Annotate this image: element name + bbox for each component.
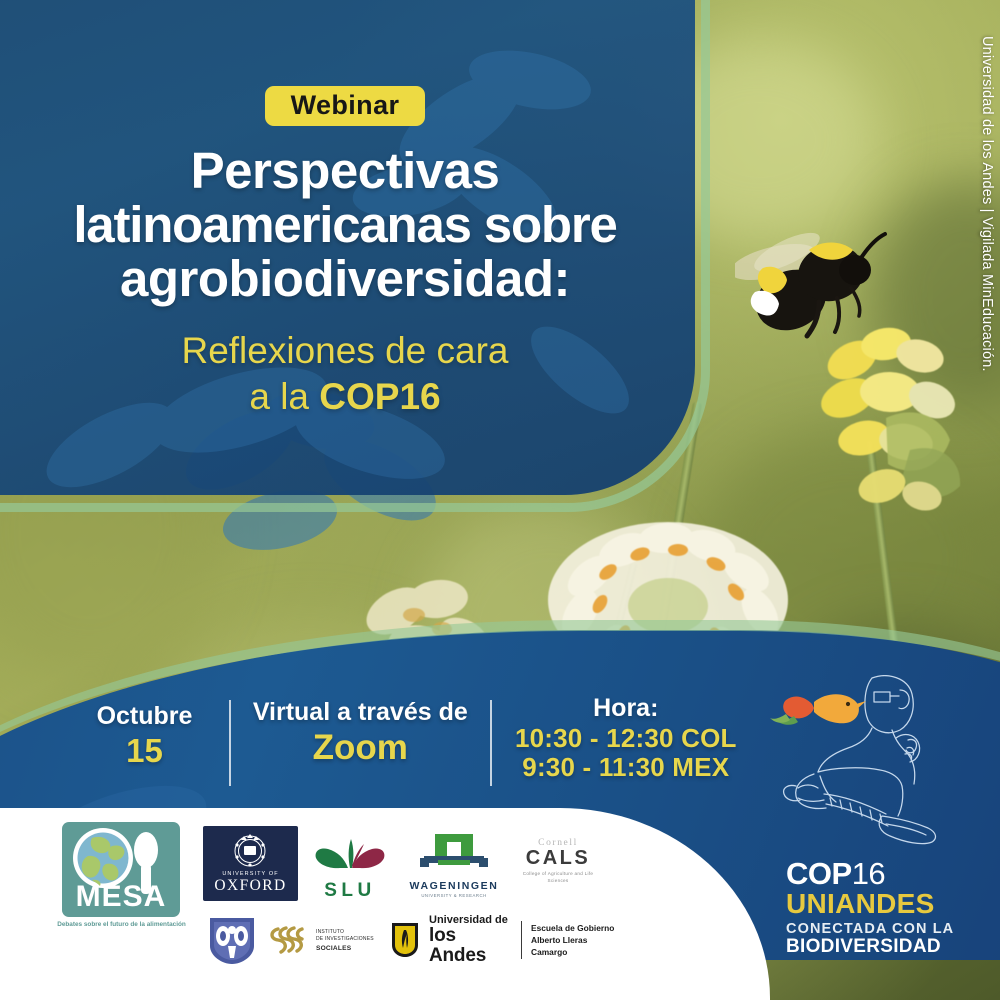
event-time: Hora: 10:30 - 12:30 COL 9:30 - 11:30 MEX	[492, 694, 760, 783]
cals-subtitle: College of Agriculture and Life Sciences	[512, 871, 604, 885]
bumblebee	[735, 218, 900, 353]
escuela-gobierno-text: Escuela de Gobierno Alberto Lleras Camar…	[531, 922, 620, 959]
headline-line-1: Perspectivas	[0, 144, 690, 198]
iis-line-3: SOCIALES	[316, 945, 351, 952]
escuela-line-1: Escuela de Gobierno	[531, 922, 620, 934]
sponsor-logos: MESA Debates sobre el futuro de la alime…	[0, 808, 770, 1000]
headline-line-3: agrobiodiversidad:	[0, 252, 690, 306]
divider	[521, 921, 522, 959]
cop16-title: COP16	[786, 858, 956, 889]
logo-mesa: MESA Debates sobre el futuro de la alime…	[62, 822, 197, 957]
logo-unam	[204, 912, 260, 968]
cop-subtitle-1: CONECTADA CON LA	[786, 922, 956, 938]
wageningen-subtitle: UNIVERSITY & RESEARCH	[404, 893, 504, 898]
webinar-badge: Webinar	[265, 86, 426, 126]
date-day: 15	[60, 732, 229, 770]
cop-number: 16	[852, 856, 885, 891]
slu-wordmark: SLU	[310, 880, 390, 902]
oxford-wordmark: UNIVERSITY OF OXFORD	[203, 871, 298, 894]
uniandes-text: UNIANDES	[786, 890, 956, 919]
oxford-name: OXFORD	[203, 877, 298, 894]
mesa-wordmark: MESA	[62, 880, 180, 914]
subheadline: Reflexiones de cara a la COP16	[0, 328, 690, 418]
iis-line-2: DE INVESTIGACIONES	[316, 936, 374, 944]
iis-spiral-icon	[268, 921, 310, 961]
logo-wageningen: WAGENINGEN UNIVERSITY & RESEARCH	[404, 830, 504, 902]
wageningen-wordmark: WAGENINGEN	[404, 880, 504, 892]
cop16-highlight: COP16	[319, 376, 440, 417]
logo-oxford: UNIVERSITY OF OXFORD	[203, 826, 298, 901]
event-details: Octubre 15 Virtual a través de Zoom Hora…	[60, 694, 760, 794]
logo-slu: SLU	[310, 832, 390, 900]
legal-side-text: Universidad de los Andes | Vigilada MinE…	[979, 36, 995, 372]
mesa-mark: MESA	[62, 822, 180, 917]
cop16-uniandes-logo: COP16 UNIANDES CONECTADA CON LA BIODIVER…	[768, 668, 968, 968]
iis-wordmark: INSTITUTO DE INVESTIGACIONES SOCIALES	[316, 929, 374, 954]
bird-icon	[770, 694, 866, 725]
wageningen-mark-icon	[404, 830, 504, 872]
cop16-wordmark: COP16 UNIANDES CONECTADA CON LA BIODIVER…	[786, 858, 956, 958]
oxford-crest-icon	[203, 826, 298, 874]
iis-line-1: INSTITUTO	[316, 929, 374, 937]
mesa-tagline: Debates sobre el futuro de la alimentaci…	[54, 921, 189, 930]
subheadline-line-2: a la COP16	[0, 374, 690, 419]
subheadline-prefix: a la	[249, 376, 319, 417]
person-with-bird-line-art	[768, 668, 968, 853]
uniandes-wordmark: Universidad de los Andes	[429, 915, 512, 966]
date-month: Octubre	[60, 702, 229, 732]
poster-canvas: Webinar Perspectivas latinoamericanas so…	[0, 0, 1000, 1000]
logo-uniandes: Universidad de los Andes Escuela de Gobi…	[390, 914, 620, 966]
logo-cornell-cals: Cornell CALS College of Agriculture and …	[512, 838, 604, 896]
cop-text: COP	[786, 856, 852, 891]
escuela-line-2: Alberto Lleras Camargo	[531, 934, 620, 958]
cop-subtitle-2: BIODIVERSIDAD	[786, 937, 956, 958]
time-mexico: 9:30 - 11:30 MEX	[492, 753, 760, 783]
headline-line-2: latinoamericanas sobre	[0, 198, 690, 252]
platform-name: Zoom	[231, 728, 490, 768]
subheadline-line-1: Reflexiones de cara	[0, 328, 690, 373]
title-block: Webinar Perspectivas latinoamericanas so…	[0, 86, 690, 419]
uniandes-shield-icon	[390, 921, 420, 959]
event-platform: Virtual a través de Zoom	[231, 694, 490, 768]
platform-label: Virtual a través de	[231, 698, 490, 728]
headline: Perspectivas latinoamericanas sobre agro…	[0, 144, 690, 306]
logo-iis: INSTITUTO DE INVESTIGACIONES SOCIALES	[268, 918, 393, 964]
slu-leaf-icon	[310, 832, 390, 872]
event-date: Octubre 15	[60, 694, 229, 769]
unam-shield-icon	[204, 912, 260, 968]
uniandes-line-2: los Andes	[429, 926, 512, 966]
time-label: Hora:	[492, 694, 760, 724]
cals-wordmark: CALS	[512, 848, 604, 868]
time-colombia: 10:30 - 12:30 COL	[492, 724, 760, 754]
